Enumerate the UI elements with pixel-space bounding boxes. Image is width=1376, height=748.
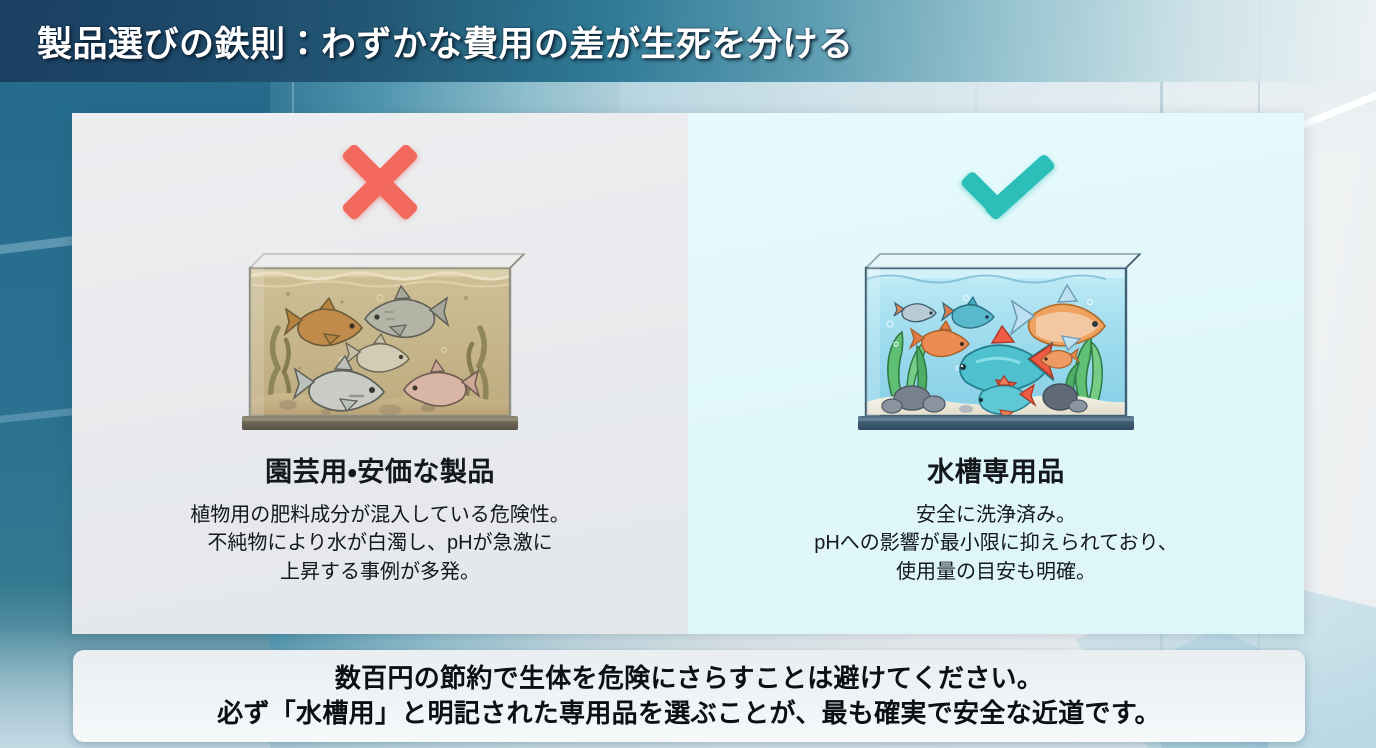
comparison-row: 園芸用・安価な製品 植物用の肥料成分が混入している危険性。 不純物により水が白濁… (72, 113, 1304, 634)
comparison-panel-good: 水槽専用品 安全に洗浄済み。 pHへの影響が最小限に抑えられており、 使用量の目… (688, 113, 1304, 634)
panel-description-good: 安全に洗浄済み。 pHへの影響が最小限に抑えられており、 使用量の目安も明確。 (814, 501, 1178, 586)
header-bar: 製品選びの鉄則：わずかな費用の差が生死を分ける (0, 0, 1376, 82)
summary-line-2: 必ず「水槽用」と明記された専用品を選ぶことが、最も確実で安全な近道です。 (217, 696, 1161, 731)
panel-description-bad: 植物用の肥料成分が混入している危険性。 不純物により水が白濁し、pHが急激に 上… (190, 501, 569, 586)
page-title: 製品選びの鉄則：わずかな費用の差が生死を分ける (37, 16, 854, 67)
check-icon (949, 144, 1043, 220)
clean-aquarium-illustration (846, 232, 1146, 432)
panel-title-good: 水槽専用品 (927, 450, 1065, 489)
comparison-panel-bad: 園芸用・安価な製品 植物用の肥料成分が混入している危険性。 不純物により水が白濁… (72, 113, 688, 634)
panel-title-bad: 園芸用・安価な製品 (265, 450, 495, 489)
cross-icon (333, 144, 427, 220)
dirty-aquarium-illustration (230, 232, 530, 432)
check-stroke-long (983, 153, 1056, 221)
summary-line-1: 数百円の節約で生体を危険にさらすことは避けてください。 (335, 661, 1043, 696)
summary-banner: 数百円の節約で生体を危険にさらすことは避けてください。 必ず「水槽用」と明記され… (73, 650, 1305, 742)
